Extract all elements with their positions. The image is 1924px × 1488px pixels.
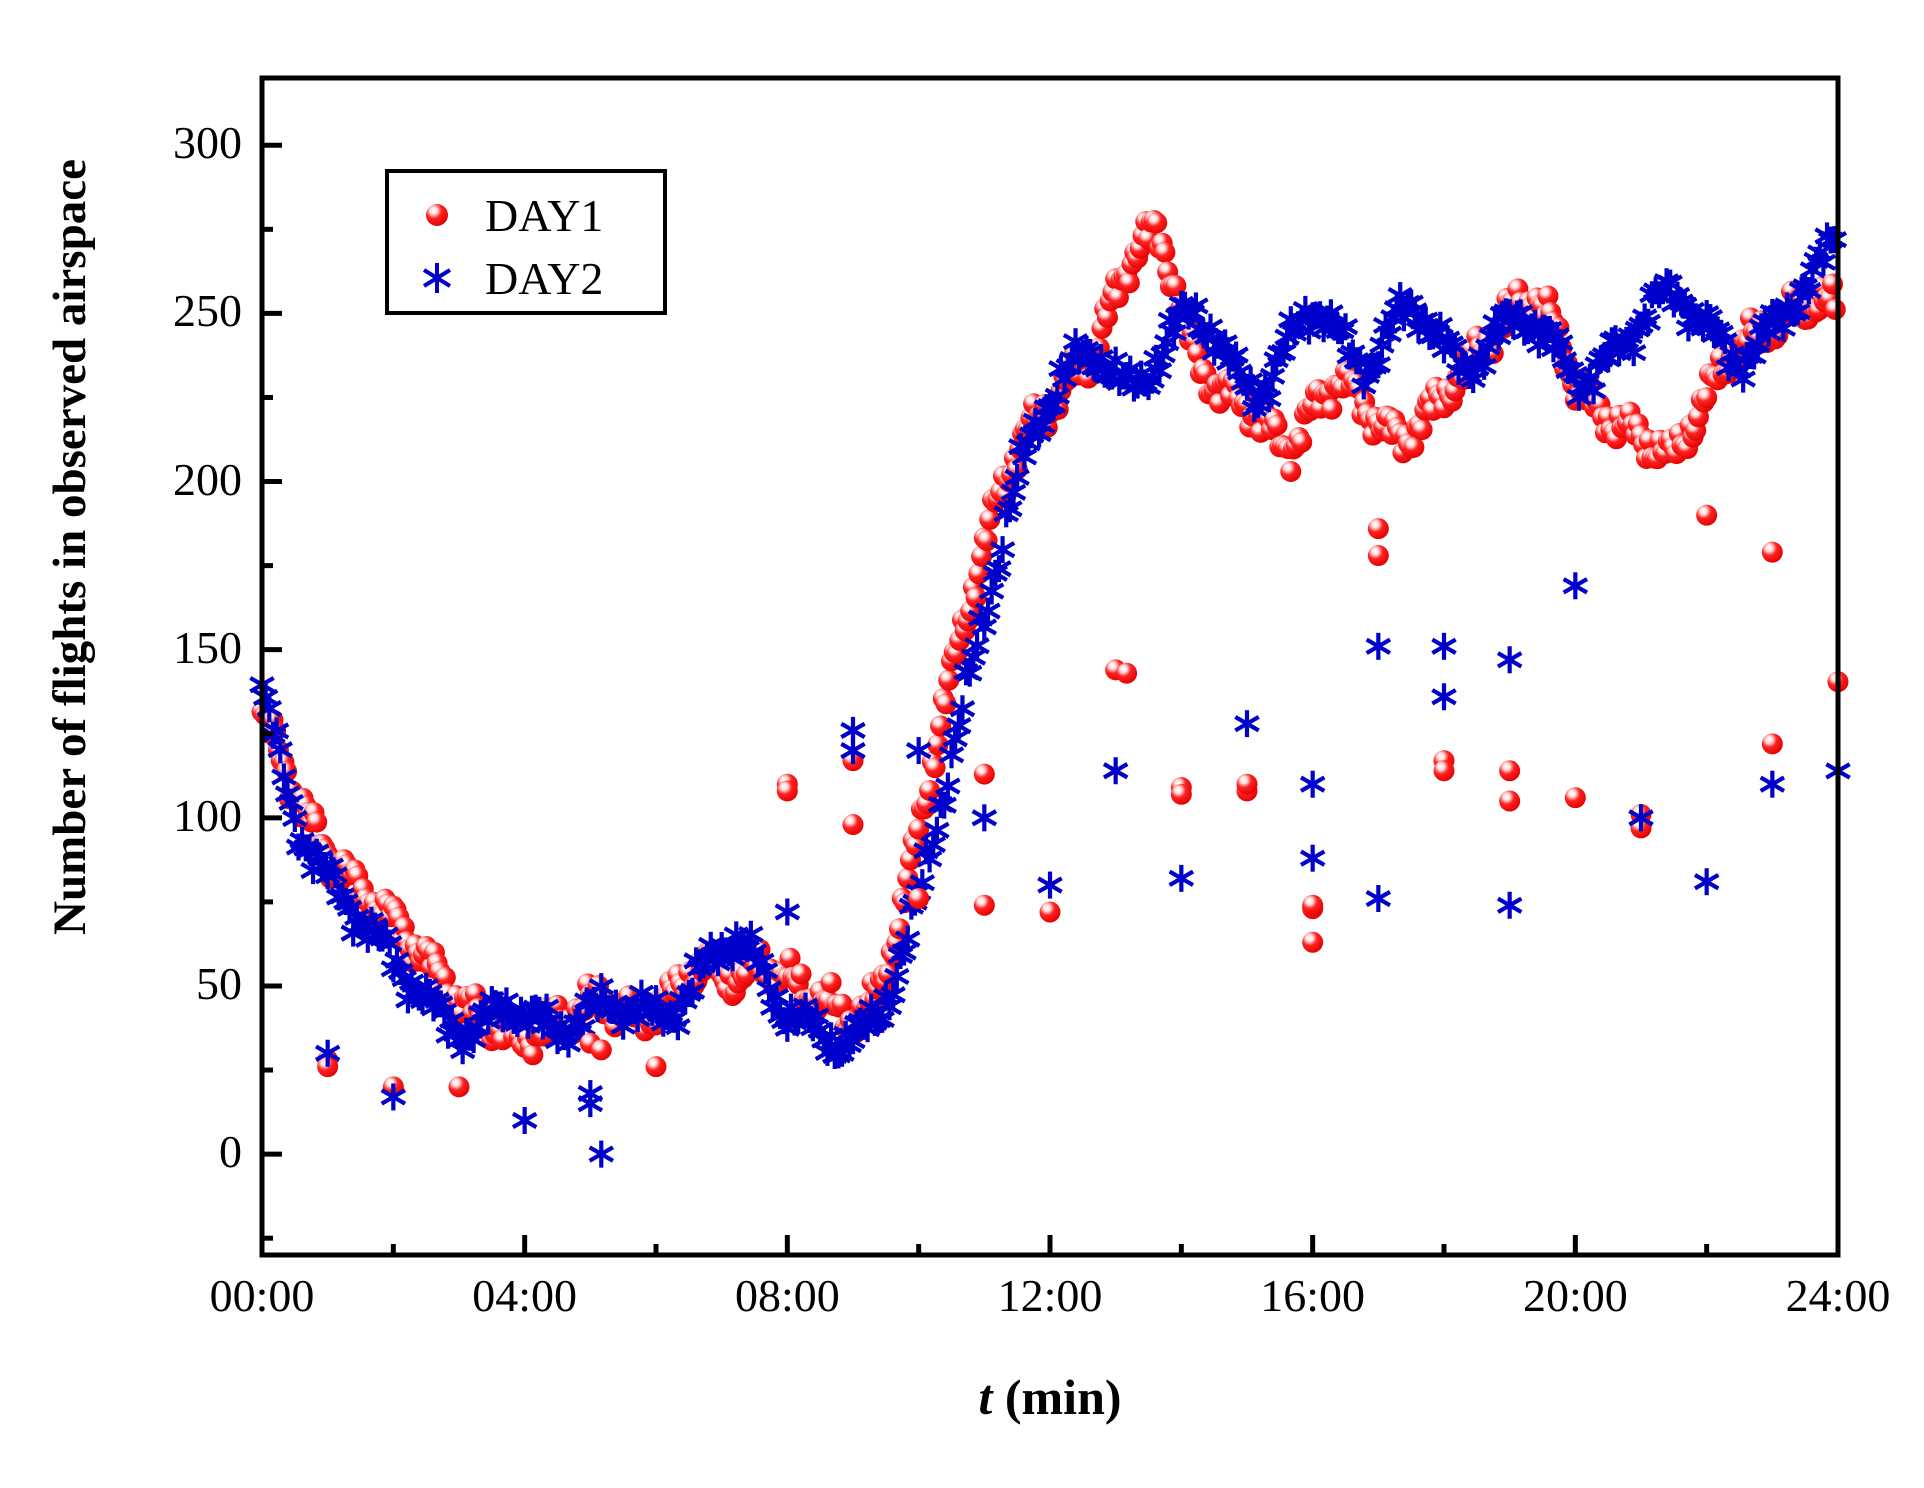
legend-marker-circle-icon: [389, 198, 485, 232]
legend-label-day2: DAY2: [485, 252, 603, 305]
x-tick-label: 08:00: [687, 1269, 887, 1322]
legend-label-day1: DAY1: [485, 189, 603, 242]
x-tick-label: 04:00: [425, 1269, 625, 1322]
y-tick-label: 50: [82, 957, 242, 1010]
y-tick-label: 0: [82, 1125, 242, 1178]
x-tick-label: 20:00: [1475, 1269, 1675, 1322]
y-tick-label: 200: [82, 453, 242, 506]
x-tick-label: 16:00: [1213, 1269, 1413, 1322]
y-tick-label: 100: [82, 789, 242, 842]
x-tick-label: 12:00: [950, 1269, 1150, 1322]
y-tick-label: 150: [82, 621, 242, 674]
x-tick-label: 24:00: [1738, 1269, 1924, 1322]
x-tick-label: 00:00: [162, 1269, 362, 1322]
data-points-layer: [250, 210, 1849, 1168]
legend-marker-asterisk-icon: [389, 258, 485, 298]
y-tick-label: 300: [82, 116, 242, 169]
legend-entry-day2: DAY2: [389, 248, 671, 308]
y-tick-label: 250: [82, 284, 242, 337]
chart-figure: Number of flights in observed airspace t…: [0, 0, 1924, 1488]
legend-entry-day1: DAY1: [389, 185, 671, 245]
plot-canvas: [0, 0, 1924, 1488]
legend-box: DAY1 DAY2: [385, 169, 667, 315]
